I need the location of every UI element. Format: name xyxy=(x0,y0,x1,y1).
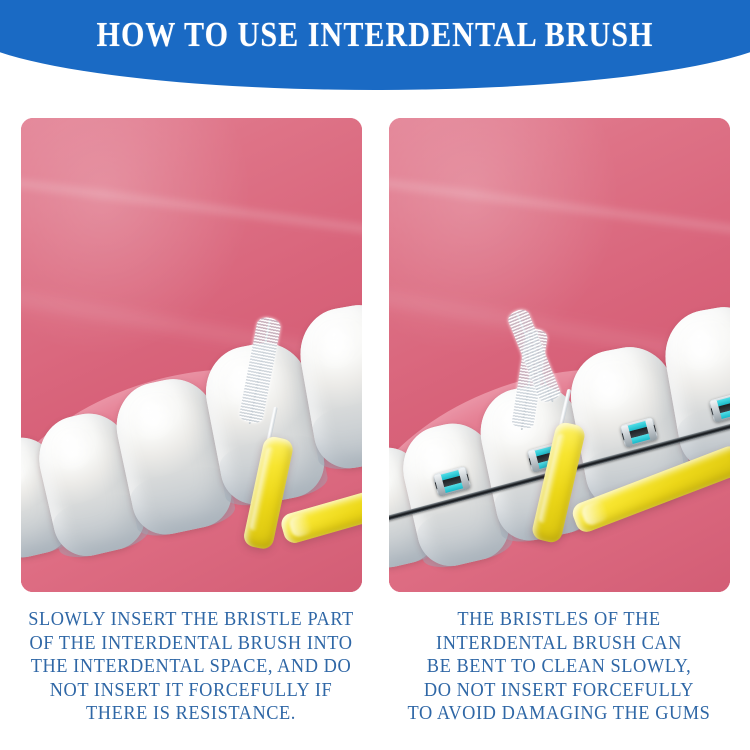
caption-left: SLOWLY INSERT THE BRISTLE PART OF THE IN… xyxy=(23,608,360,726)
caption-line: DO NOT INSERT FORCEFULLY xyxy=(391,679,728,703)
caption-line: INTERDENTAL BRUSH CAN xyxy=(391,632,728,656)
page-title: HOW TO USE INTERDENTAL BRUSH xyxy=(53,14,698,56)
caption-line: NOT INSERT IT FORCEFULLY IF xyxy=(23,679,360,703)
illustration-panel-normal-teeth xyxy=(21,118,362,592)
caption-line: BE BENT TO CLEAN SLOWLY, xyxy=(391,655,728,679)
handle-gloss xyxy=(288,513,314,539)
caption-line: OF THE INTERDENTAL BRUSH INTO xyxy=(23,632,360,656)
caption-line: THE BRISTLES OF THE xyxy=(391,608,728,632)
caption-line: TO AVOID DAMAGING THE GUMS xyxy=(391,702,728,726)
caption-right: THE BRISTLES OF THE INTERDENTAL BRUSH CA… xyxy=(391,608,728,726)
handle-gloss xyxy=(579,499,610,528)
illustration-panel-braces-teeth xyxy=(389,118,730,592)
caption-line: THERE IS RESISTANCE. xyxy=(23,702,360,726)
caption-line: THE INTERDENTAL SPACE, AND DO xyxy=(23,655,360,679)
caption-line: SLOWLY INSERT THE BRISTLE PART xyxy=(23,608,360,632)
header-banner: HOW TO USE INTERDENTAL BRUSH xyxy=(0,0,750,100)
